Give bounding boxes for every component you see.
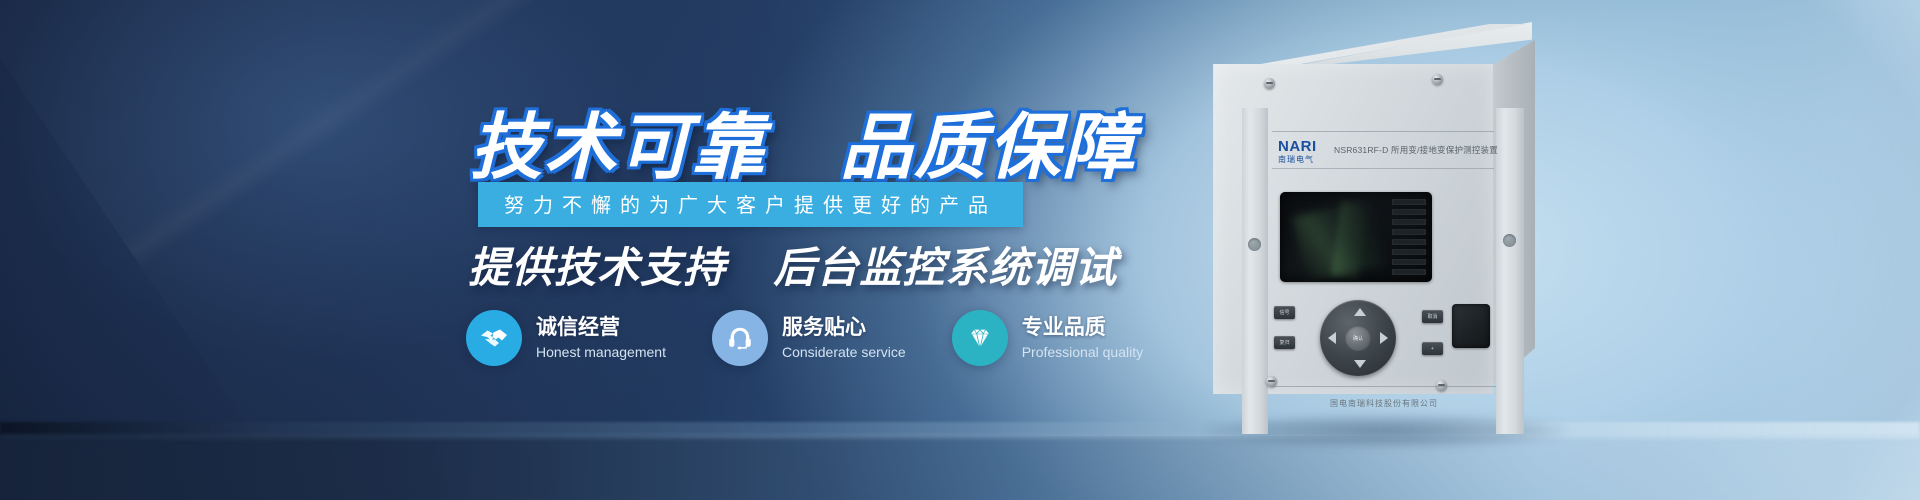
handshake-icon-circle bbox=[466, 310, 522, 366]
lcd-indicator bbox=[1392, 219, 1426, 225]
device-button-plus[interactable]: + bbox=[1422, 342, 1443, 355]
tagline: 提供技术支持 后台监控系统调试 bbox=[468, 234, 1117, 295]
headline: 技术可靠 品质保障 bbox=[470, 88, 1136, 193]
feature-title-zh: 诚信经营 bbox=[536, 315, 666, 341]
device-brand-logo: NARI bbox=[1278, 138, 1317, 155]
device-dpad[interactable]: 确认 bbox=[1320, 300, 1396, 376]
device-button-cancel[interactable]: 取消 bbox=[1422, 310, 1443, 323]
arrow-up-icon[interactable] bbox=[1354, 308, 1366, 316]
feature-item-honest-management[interactable]: 诚信经营 Honest management bbox=[466, 310, 666, 366]
device-mounting-rail-right bbox=[1496, 108, 1524, 434]
headset-icon-circle bbox=[712, 310, 768, 366]
device-button-signal[interactable]: 信号 bbox=[1274, 306, 1295, 319]
headline-part2: 品质保障 bbox=[840, 108, 1136, 188]
lcd-indicator bbox=[1392, 209, 1426, 215]
banner-content: 技术可靠 品质保障 努力不懈的为广大客户提供更好的产品 提供技术支持 后台监控系… bbox=[0, 0, 1920, 500]
lcd-indicator bbox=[1392, 239, 1426, 245]
device-button-confirm[interactable]: 确认 bbox=[1345, 325, 1371, 351]
lcd-indicator bbox=[1392, 229, 1426, 235]
feature-title-en: Professional quality bbox=[1022, 343, 1143, 361]
handshake-icon bbox=[478, 322, 510, 354]
feature-item-professional-quality[interactable]: 专业品质 Professional quality bbox=[952, 310, 1143, 366]
lcd-indicator-strip bbox=[1392, 199, 1426, 275]
product-banner: 技术可靠 品质保障 努力不懈的为广大客户提供更好的产品 提供技术支持 后台监控系… bbox=[0, 0, 1920, 500]
diamond-icon bbox=[965, 323, 995, 353]
tagline-part2: 后台监控系统调试 bbox=[773, 244, 1117, 291]
subtitle-bar: 努力不懈的为广大客户提供更好的产品 bbox=[478, 182, 1023, 227]
device-screw-top-left bbox=[1264, 78, 1275, 89]
feature-title-en: Honest management bbox=[536, 343, 666, 361]
feature-text: 专业品质 Professional quality bbox=[1022, 315, 1143, 361]
rail-hole-icon bbox=[1248, 238, 1261, 251]
product-device-image: NARI 南瑞电气 NSR631RF-D 所用变/接地变保护测控装置 bbox=[1185, 22, 1585, 437]
device-mounting-rail-left bbox=[1242, 108, 1268, 434]
lcd-indicator bbox=[1392, 269, 1426, 275]
feature-text: 诚信经营 Honest management bbox=[536, 315, 666, 361]
device-brand-logo-cn: 南瑞电气 bbox=[1278, 154, 1314, 165]
label-plate-line-bottom bbox=[1272, 168, 1494, 169]
feature-title-zh: 专业品质 bbox=[1022, 315, 1143, 341]
diamond-icon-circle bbox=[952, 310, 1008, 366]
arrow-left-icon[interactable] bbox=[1328, 332, 1336, 344]
arrow-down-icon[interactable] bbox=[1354, 360, 1366, 368]
feature-title-en: Considerate service bbox=[782, 343, 906, 361]
device-button-reset[interactable]: 复归 bbox=[1274, 336, 1295, 349]
device-ir-port bbox=[1452, 304, 1490, 348]
device-label-plate: NARI 南瑞电气 NSR631RF-D 所用变/接地变保护测控装置 bbox=[1272, 136, 1494, 166]
device-lcd-screen[interactable] bbox=[1280, 192, 1432, 282]
feature-list: 诚信经营 Honest management 服务贴心 Cons bbox=[466, 310, 1189, 366]
feature-title-zh: 服务贴心 bbox=[782, 315, 906, 341]
label-plate-line-top bbox=[1272, 131, 1494, 132]
headline-part1: 技术可靠 bbox=[470, 108, 766, 188]
subtitle-bar-text: 努力不懈的为广大客户提供更好的产品 bbox=[504, 189, 997, 218]
arrow-right-icon[interactable] bbox=[1380, 332, 1388, 344]
rail-hole-icon bbox=[1503, 234, 1516, 247]
lcd-indicator bbox=[1392, 199, 1426, 205]
device-front-panel: NARI 南瑞电气 NSR631RF-D 所用变/接地变保护测控装置 bbox=[1213, 64, 1493, 394]
device-screw-top-right bbox=[1432, 74, 1443, 85]
lcd-indicator bbox=[1392, 249, 1426, 255]
tagline-part1: 提供技术支持 bbox=[468, 244, 726, 291]
device-divider bbox=[1272, 386, 1496, 387]
device-control-panel: 信号 复归 取消 + 确认 bbox=[1274, 300, 1490, 374]
lcd-indicator bbox=[1392, 259, 1426, 265]
device-model-label: NSR631RF-D 所用变/接地变保护测控装置 bbox=[1334, 144, 1498, 156]
feature-item-considerate-service[interactable]: 服务贴心 Considerate service bbox=[712, 310, 906, 366]
device-company-name: 国电南瑞科技股份有限公司 bbox=[1272, 398, 1496, 409]
headset-icon bbox=[725, 323, 755, 353]
feature-text: 服务贴心 Considerate service bbox=[782, 315, 906, 361]
